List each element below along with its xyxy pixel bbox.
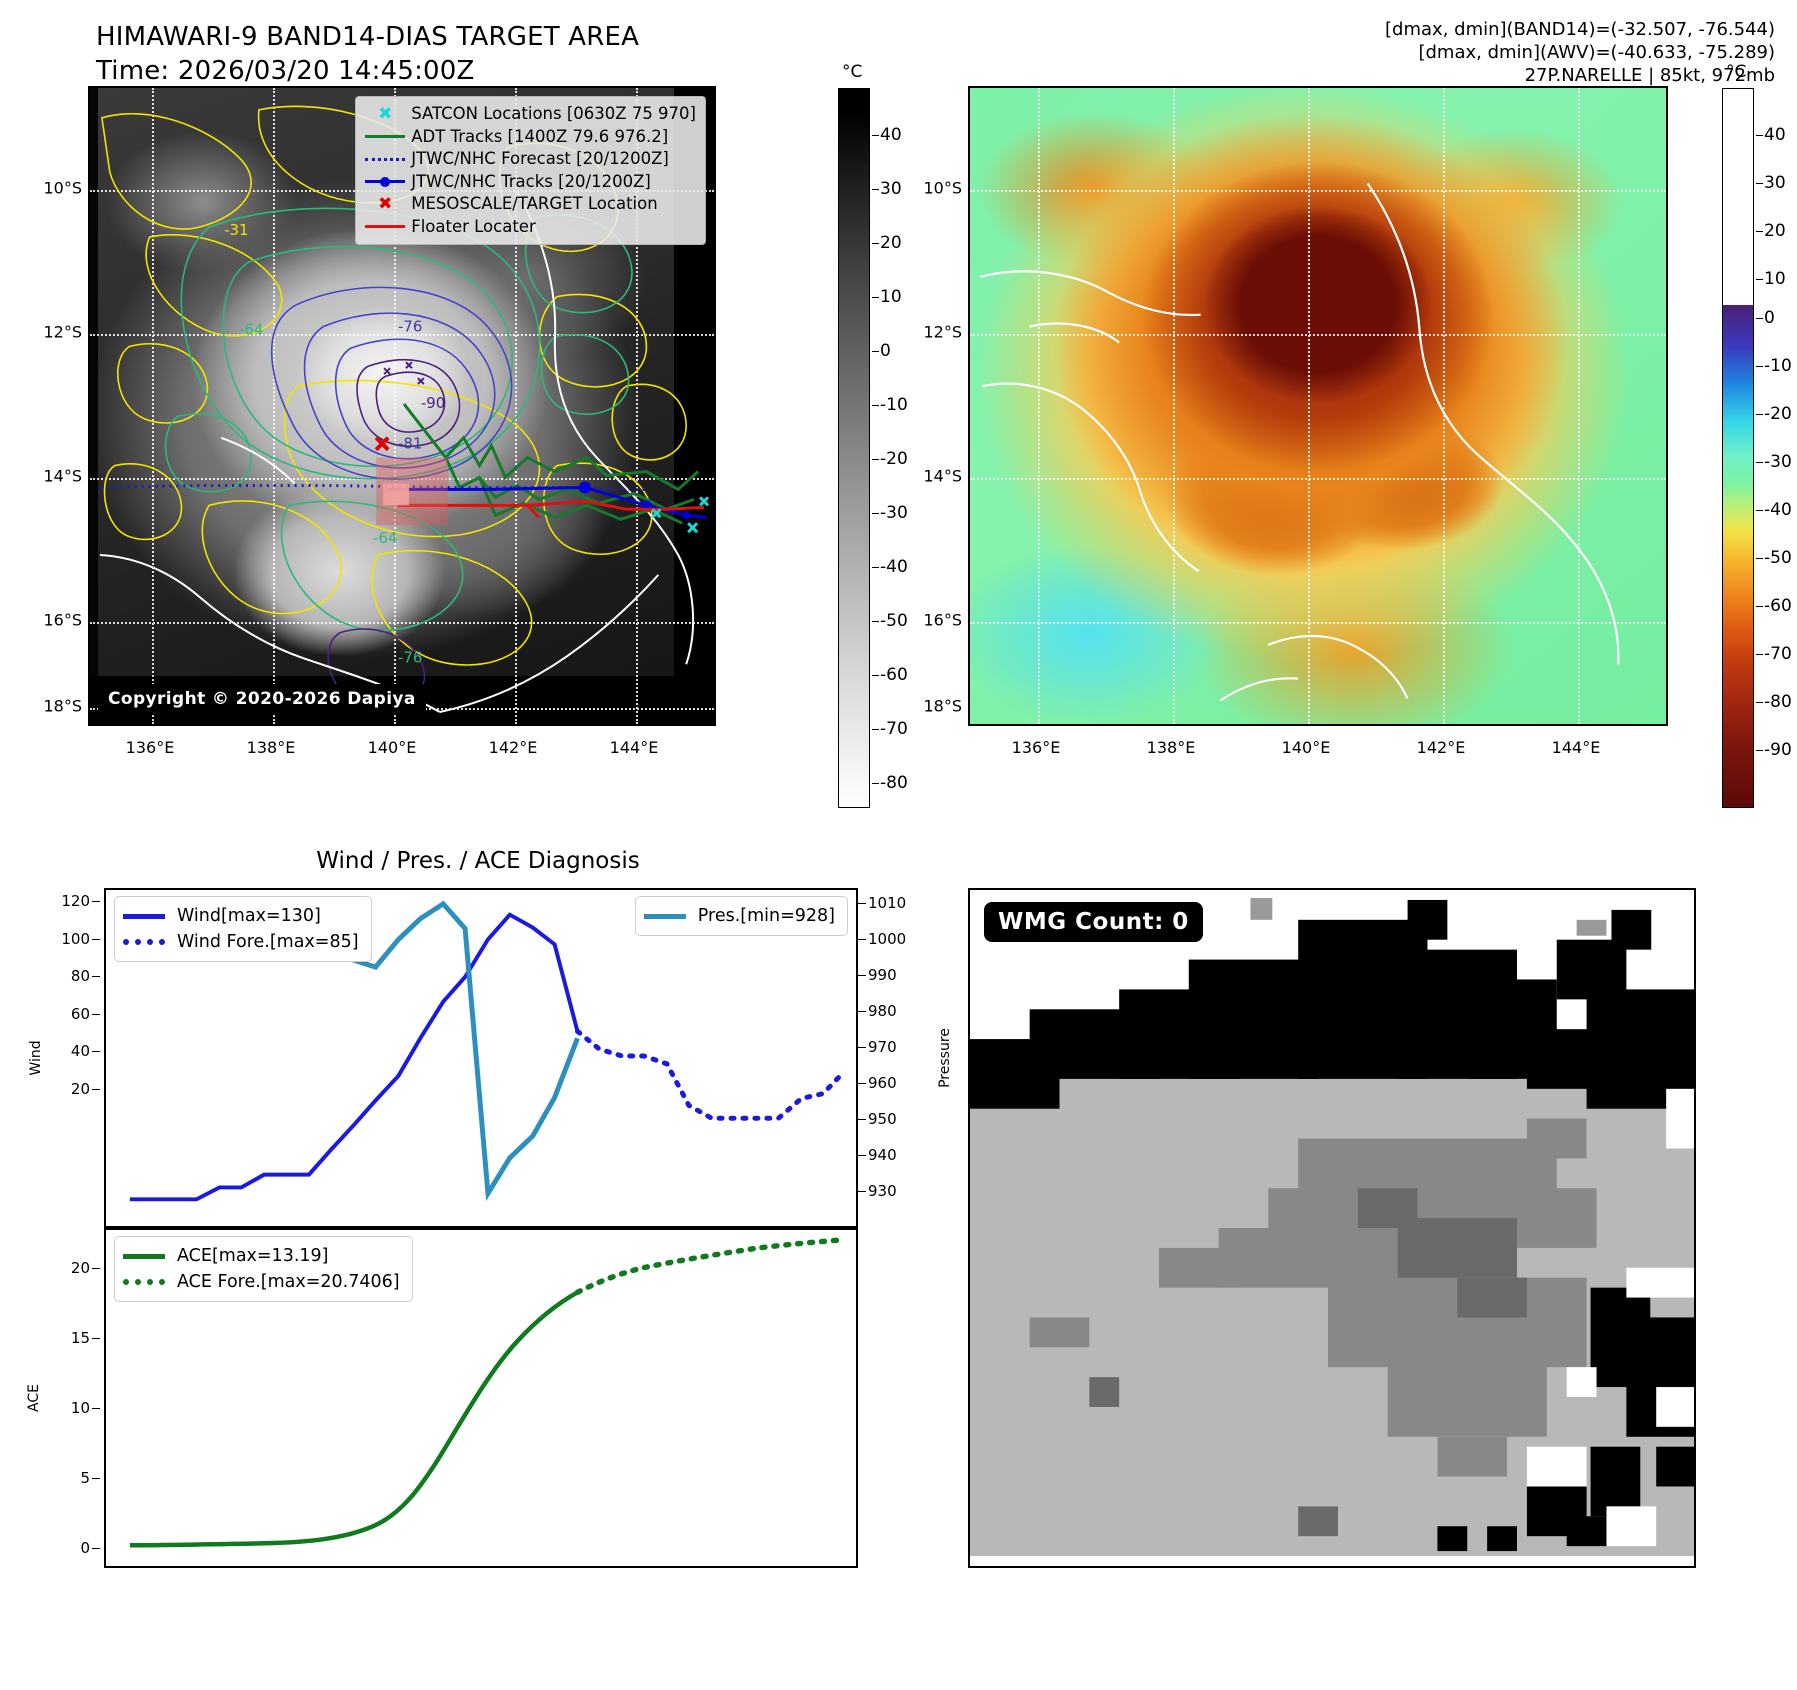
legend-row-wind: Wind[max=130] bbox=[123, 903, 359, 929]
ir-cbar-tick-m40: -40 bbox=[880, 557, 908, 577]
ir-cbar-tick-m50: -50 bbox=[880, 611, 908, 631]
wmg-panel[interactable]: WMG Count: 0 bbox=[968, 888, 1696, 1568]
ace-chart[interactable]: ACE[max=13.19] ACE Fore.[max=20.7406] bbox=[104, 1228, 858, 1568]
ir-cbar-tick-m30: -30 bbox=[880, 503, 908, 523]
wind-legend: Wind[max=130] Wind Fore.[max=85] bbox=[114, 896, 372, 962]
stat-awv: [dmax, dmin](AWV)=(-40.633, -75.289) bbox=[1385, 41, 1775, 64]
legend-label-satcon: SATCON Locations [0630Z 75 970] bbox=[407, 103, 696, 126]
ace-axis-label: ACE bbox=[26, 1358, 42, 1438]
ir-lat-tick-10s: 10°S bbox=[36, 179, 82, 198]
awv-lon-tick-138e: 138°E bbox=[1147, 738, 1196, 757]
ir-cbar-tick-0: 0 bbox=[880, 341, 891, 361]
storm-id: 27P.NARELLE | 85kt, 972mb bbox=[1385, 64, 1775, 87]
ir-map-panel[interactable]: -90 -76 -81 -64 -64 -76 -31 bbox=[88, 86, 716, 726]
legend-row-adt: ADT Tracks [1400Z 79.6 976.2] bbox=[363, 126, 696, 149]
wind-tick-120: 120 bbox=[61, 892, 90, 910]
awv-lon-tick-144e: 144°E bbox=[1552, 738, 1601, 757]
pres-tick-1010: 1010 bbox=[868, 894, 906, 912]
legend-row-pressure: Pres.[min=928] bbox=[644, 903, 835, 929]
ir-lat-tick-14s: 14°S bbox=[36, 467, 82, 486]
legend-label-ace: ACE[max=13.19] bbox=[171, 1243, 328, 1269]
dashboard-root: HIMAWARI-9 BAND14-DIAS TARGET AREA Time:… bbox=[0, 0, 1797, 1690]
title-line: HIMAWARI-9 BAND14-DIAS TARGET AREA bbox=[96, 20, 639, 54]
awv-cbar-tick-m80: -80 bbox=[1764, 692, 1792, 712]
wmg-image bbox=[970, 890, 1694, 1566]
legend-label-adt: ADT Tracks [1400Z 79.6 976.2] bbox=[407, 126, 668, 149]
wind-forecast-dotted-icon bbox=[123, 939, 171, 945]
awv-cbar-tick-m60: -60 bbox=[1764, 596, 1792, 616]
legend-row-satcon: ✖ SATCON Locations [0630Z 75 970] bbox=[363, 103, 696, 126]
ir-colorbar-unit: °C bbox=[842, 62, 862, 82]
solid-line-icon bbox=[363, 135, 407, 138]
wind-tick-80: 80 bbox=[71, 967, 90, 985]
legend-row-ace-forecast: ACE Fore.[max=20.7406] bbox=[123, 1269, 400, 1295]
pres-tick-980: 980 bbox=[868, 1002, 897, 1020]
awv-cbar-tick-m20: -20 bbox=[1764, 404, 1792, 424]
wmg-blocky-raster bbox=[970, 890, 1694, 1566]
legend-label-floater: Floater Locater bbox=[407, 216, 536, 239]
ir-lon-tick-140e: 140°E bbox=[368, 738, 417, 757]
awv-cbar-tick-0: 0 bbox=[1764, 308, 1775, 328]
ir-lon-tick-136e: 136°E bbox=[126, 738, 175, 757]
pres-tick-940: 940 bbox=[868, 1146, 897, 1164]
awv-lat-tick-12s: 12°S bbox=[916, 323, 962, 342]
copyright-badge: Copyright © 2020-2026 Dapiya bbox=[98, 684, 426, 714]
pressure-y-ticks: 930 940 950 960 970 980 990 1000 1010 bbox=[860, 888, 940, 1228]
wind-pres-ace-title: Wind / Pres. / ACE Diagnosis bbox=[88, 848, 868, 874]
awv-lat-tick-18s: 18°S bbox=[916, 697, 962, 716]
awv-cbar-tick-m50: -50 bbox=[1764, 548, 1792, 568]
ir-cbar-tick-30: 30 bbox=[880, 179, 902, 199]
ir-map-legend: ✖ SATCON Locations [0630Z 75 970] ADT Tr… bbox=[355, 96, 706, 245]
wind-y-ticks: 20 40 60 80 100 120 bbox=[38, 888, 98, 1228]
pres-tick-960: 960 bbox=[868, 1074, 897, 1092]
awv-map-image bbox=[970, 88, 1666, 724]
pressure-legend: Pres.[min=928] bbox=[635, 896, 848, 936]
awv-cbar-tick-40: 40 bbox=[1764, 125, 1786, 145]
wind-axis-label: Wind bbox=[28, 1018, 44, 1098]
wind-forecast-line bbox=[577, 1031, 842, 1118]
awv-lat-tick-16s: 16°S bbox=[916, 611, 962, 630]
pres-tick-970: 970 bbox=[868, 1038, 897, 1056]
solid-line-red-icon bbox=[363, 225, 407, 228]
legend-label-jtwc-forecast: JTWC/NHC Forecast [20/1200Z] bbox=[407, 148, 669, 171]
ace-y-ticks: 0 5 10 15 20 bbox=[38, 1228, 98, 1568]
ace-forecast-dotted-icon bbox=[123, 1279, 171, 1285]
awv-colorbar-unit: °C bbox=[1726, 62, 1746, 82]
stat-band14: [dmax, dmin](BAND14)=(-32.507, -76.544) bbox=[1385, 18, 1775, 41]
wind-pressure-chart[interactable]: Wind[max=130] Wind Fore.[max=85] Pres.[m… bbox=[104, 888, 858, 1228]
ace-legend: ACE[max=13.19] ACE Fore.[max=20.7406] bbox=[114, 1236, 413, 1302]
ir-colorbar bbox=[838, 88, 870, 808]
ace-tick-15: 15 bbox=[71, 1329, 90, 1347]
awv-cbar-tick-m40: -40 bbox=[1764, 500, 1792, 520]
awv-lon-tick-142e: 142°E bbox=[1417, 738, 1466, 757]
ace-observed-line bbox=[130, 1292, 578, 1545]
svg-text:-76: -76 bbox=[398, 648, 422, 666]
legend-label-ace-forecast: ACE Fore.[max=20.7406] bbox=[171, 1269, 400, 1295]
legend-row-mesoscale: ✖ MESOSCALE/TARGET Location bbox=[363, 193, 696, 216]
ace-line-icon bbox=[123, 1254, 171, 1259]
svg-text:-81: -81 bbox=[398, 435, 422, 453]
ir-cbar-tick-m80: -80 bbox=[880, 773, 908, 793]
legend-row-jtwc-tracks: JTWC/NHC Tracks [20/1200Z] bbox=[363, 171, 696, 194]
awv-cbar-tick-20: 20 bbox=[1764, 221, 1786, 241]
ir-cbar-tick-m70: -70 bbox=[880, 719, 908, 739]
legend-label-mesoscale: MESOSCALE/TARGET Location bbox=[407, 193, 657, 216]
awv-cbar-tick-m10: -10 bbox=[1764, 356, 1792, 376]
header-stats: [dmax, dmin](BAND14)=(-32.507, -76.544) … bbox=[1385, 18, 1775, 87]
ir-lon-tick-144e: 144°E bbox=[610, 738, 659, 757]
legend-label-jtwc-tracks: JTWC/NHC Tracks [20/1200Z] bbox=[407, 171, 651, 194]
wind-line-icon bbox=[123, 914, 171, 919]
wmg-count-badge: WMG Count: 0 bbox=[984, 902, 1203, 942]
ace-forecast-line bbox=[577, 1240, 842, 1292]
ace-tick-20: 20 bbox=[71, 1259, 90, 1277]
awv-cbar-tick-m90: -90 bbox=[1764, 740, 1792, 760]
awv-coastline bbox=[970, 88, 1666, 724]
svg-text:-76: -76 bbox=[398, 317, 422, 335]
ir-lat-tick-18s: 18°S bbox=[36, 697, 82, 716]
wind-tick-100: 100 bbox=[61, 930, 90, 948]
page-title: HIMAWARI-9 BAND14-DIAS TARGET AREA Time:… bbox=[96, 20, 639, 88]
svg-text:-31: -31 bbox=[224, 221, 248, 239]
awv-map-panel[interactable] bbox=[968, 86, 1668, 726]
pres-tick-930: 930 bbox=[868, 1182, 897, 1200]
awv-lat-tick-10s: 10°S bbox=[916, 179, 962, 198]
x-marker-red-icon: ✖ bbox=[363, 196, 407, 213]
pressure-axis-label: Pressure bbox=[937, 1013, 953, 1103]
svg-text:-64: -64 bbox=[373, 529, 397, 547]
ir-cbar-tick-10: 10 bbox=[880, 287, 902, 307]
ace-tick-5: 5 bbox=[80, 1469, 90, 1487]
wind-tick-40: 40 bbox=[71, 1042, 90, 1060]
awv-cbar-tick-30: 30 bbox=[1764, 173, 1786, 193]
awv-lon-tick-136e: 136°E bbox=[1012, 738, 1061, 757]
ace-tick-0: 0 bbox=[80, 1539, 90, 1557]
pres-tick-1000: 1000 bbox=[868, 930, 906, 948]
pressure-line-icon bbox=[644, 914, 692, 919]
ir-cbar-tick-m60: -60 bbox=[880, 665, 908, 685]
wind-tick-60: 60 bbox=[71, 1005, 90, 1023]
awv-lon-tick-140e: 140°E bbox=[1282, 738, 1331, 757]
ir-cbar-tick-m20: -20 bbox=[880, 449, 908, 469]
ace-tick-10: 10 bbox=[71, 1399, 90, 1417]
svg-text:-90: -90 bbox=[421, 394, 445, 412]
legend-label-wind-forecast: Wind Fore.[max=85] bbox=[171, 929, 359, 955]
pres-tick-950: 950 bbox=[868, 1110, 897, 1128]
awv-cbar-tick-m30: -30 bbox=[1764, 452, 1792, 472]
awv-lat-tick-14s: 14°S bbox=[916, 467, 962, 486]
pres-tick-990: 990 bbox=[868, 966, 897, 984]
x-marker-icon: ✖ bbox=[363, 106, 407, 123]
awv-cbar-tick-10: 10 bbox=[1764, 269, 1786, 289]
ir-lon-tick-142e: 142°E bbox=[489, 738, 538, 757]
legend-label-pressure: Pres.[min=928] bbox=[692, 903, 835, 929]
awv-colorbar-ticks: 40 30 20 10 0 -10 -20 -30 -40 -50 -60 -7… bbox=[1764, 88, 1797, 808]
dotted-line-icon bbox=[363, 158, 407, 161]
legend-row-jtwc-forecast: JTWC/NHC Forecast [20/1200Z] bbox=[363, 148, 696, 171]
legend-row-floater: Floater Locater bbox=[363, 216, 696, 239]
legend-label-wind: Wind[max=130] bbox=[171, 903, 321, 929]
ir-lon-tick-138e: 138°E bbox=[247, 738, 296, 757]
ir-lat-tick-16s: 16°S bbox=[36, 611, 82, 630]
awv-colorbar bbox=[1722, 88, 1754, 808]
time-line: Time: 2026/03/20 14:45:00Z bbox=[96, 54, 639, 88]
legend-row-ace: ACE[max=13.19] bbox=[123, 1243, 400, 1269]
ir-cbar-tick-m10: -10 bbox=[880, 395, 908, 415]
line-with-point-icon bbox=[363, 180, 407, 183]
svg-text:-64: -64 bbox=[239, 320, 263, 338]
ir-lat-tick-12s: 12°S bbox=[36, 323, 82, 342]
ir-cbar-tick-40: 40 bbox=[880, 125, 902, 145]
legend-row-wind-forecast: Wind Fore.[max=85] bbox=[123, 929, 359, 955]
awv-cbar-tick-m70: -70 bbox=[1764, 644, 1792, 664]
ir-cbar-tick-20: 20 bbox=[880, 233, 902, 253]
wind-tick-20: 20 bbox=[71, 1080, 90, 1098]
